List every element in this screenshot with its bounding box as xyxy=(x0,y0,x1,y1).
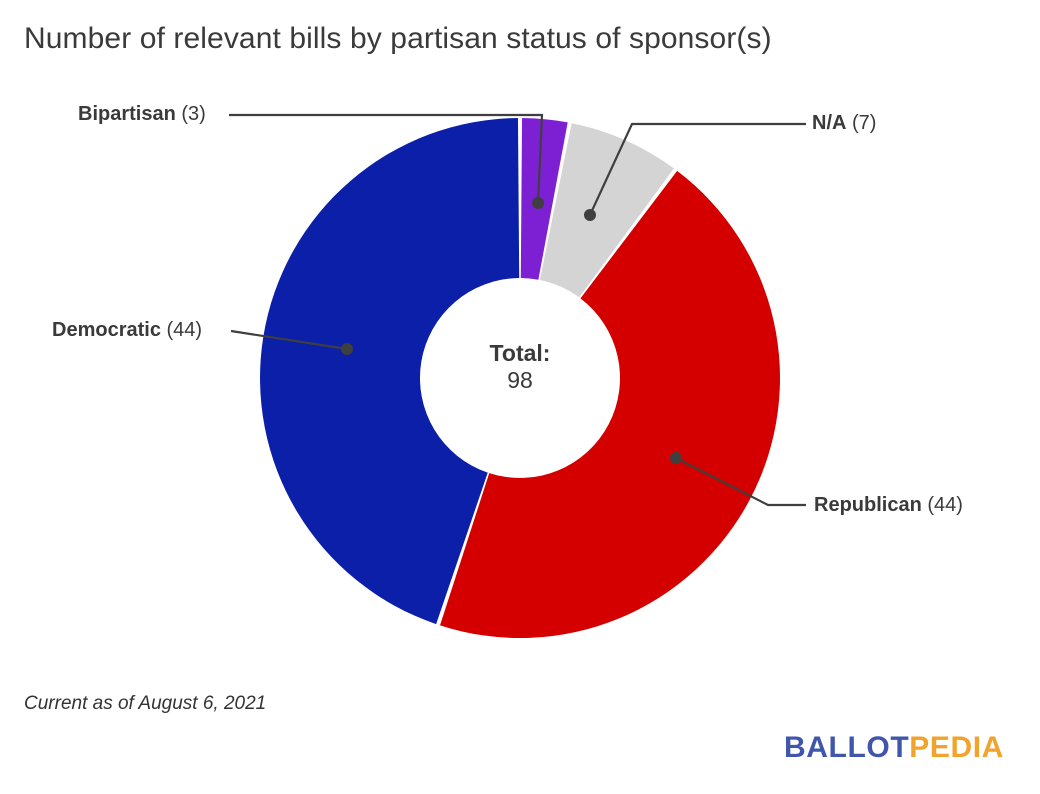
footnote-current-as-of: Current as of August 6, 2021 xyxy=(24,693,266,715)
slice-label-na-count: (7) xyxy=(852,112,876,134)
leader-dot-bipartisan xyxy=(532,197,544,209)
slice-label-democratic-count: (44) xyxy=(167,319,203,341)
ballotpedia-logo: BALLOTPEDIA xyxy=(784,731,1004,765)
slice-label-bipartisan[interactable]: Bipartisan (3) xyxy=(78,104,206,124)
slice-label-democratic[interactable]: Democratic (44) xyxy=(52,320,202,340)
leader-dot-republican xyxy=(670,452,682,464)
slice-label-republican-count: (44) xyxy=(927,494,963,516)
ballotpedia-logo-ballot: BALLOT xyxy=(784,731,909,764)
donut-center-total-value: 98 xyxy=(420,366,620,396)
slice-label-bipartisan-category: Bipartisan xyxy=(78,103,176,125)
donut-center-total-label: Total: xyxy=(420,340,620,366)
donut-center-summary: Total: 98 xyxy=(420,340,620,396)
leader-dot-na xyxy=(584,209,596,221)
slice-label-na[interactable]: N/A (7) xyxy=(812,113,876,133)
slice-label-republican-category: Republican xyxy=(814,494,922,516)
chart-canvas: Number of relevant bills by partisan sta… xyxy=(0,0,1040,794)
slice-label-republican[interactable]: Republican (44) xyxy=(814,495,963,515)
slice-label-bipartisan-count: (3) xyxy=(181,103,205,125)
leader-dot-democratic xyxy=(341,343,353,355)
ballotpedia-logo-pedia: PEDIA xyxy=(909,731,1004,764)
slice-label-democratic-category: Democratic xyxy=(52,319,161,341)
slice-label-na-category: N/A xyxy=(812,112,846,134)
